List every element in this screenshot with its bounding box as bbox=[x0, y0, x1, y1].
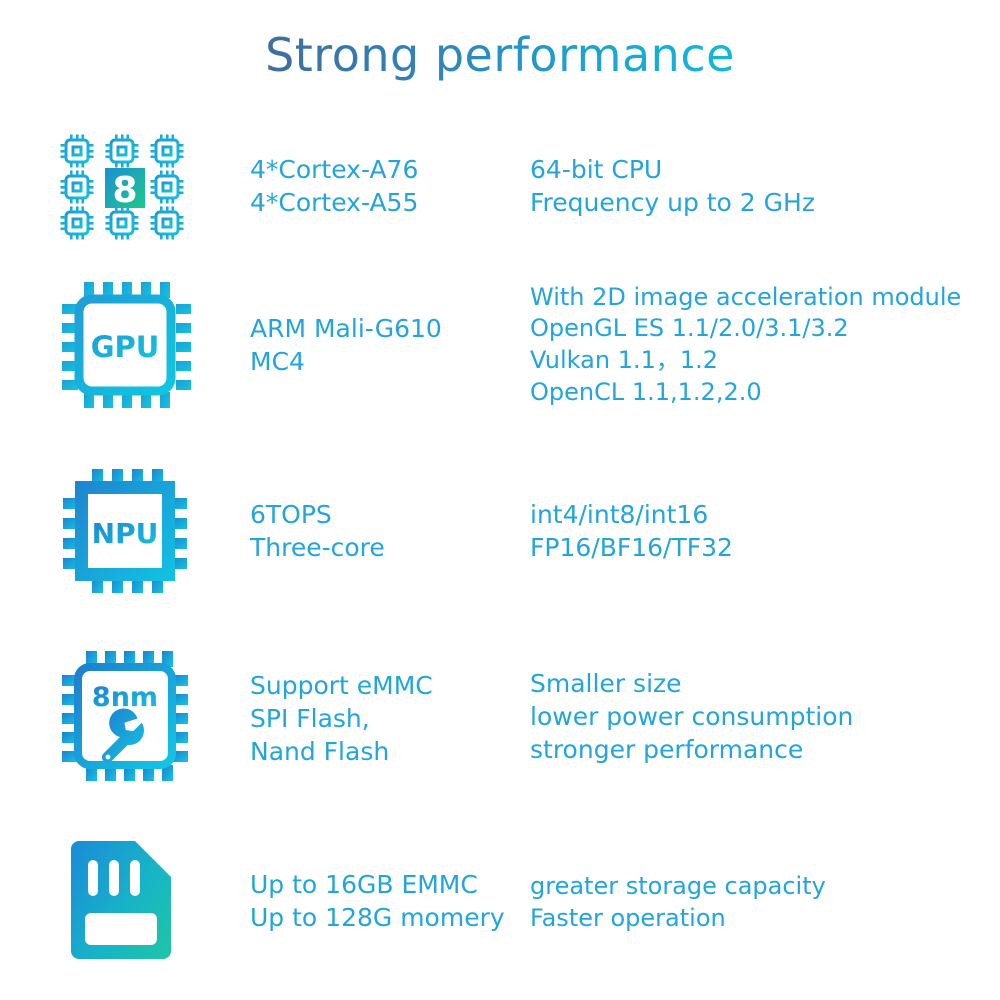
spec-row-npu: NPU 6TOPS Three-core int4/int8/int16 FP1… bbox=[0, 466, 1000, 596]
npu-spec-col2: int4/int8/int16 FP16/BF16/TF32 bbox=[530, 498, 1000, 564]
gpu-chip-icon: GPU bbox=[59, 279, 191, 411]
memory-card-label-area bbox=[85, 913, 157, 945]
icon-cell-storage bbox=[0, 837, 250, 963]
gpu-spec-col1: ARM Mali-G610 MC4 bbox=[250, 312, 530, 378]
process-spec-col2: Smaller size lower power consumption str… bbox=[530, 667, 1000, 766]
memory-card-icon bbox=[67, 837, 183, 963]
memory-card-pin bbox=[88, 860, 98, 896]
spec-row-process: 8nm Support eMMC SPI Flash, Nand Flash S… bbox=[0, 640, 1000, 792]
page-title-container: Strong performance bbox=[0, 28, 1000, 83]
gpu-spec-col2: With 2D image acceleration module OpenGL… bbox=[530, 282, 1000, 409]
process-spec-col1: Support eMMC SPI Flash, Nand Flash bbox=[250, 665, 530, 768]
process-node-chip-wrench-icon: 8nm bbox=[59, 648, 191, 784]
cpu-spec-col2: 64-bit CPU Frequency up to 2 GHz bbox=[530, 153, 1000, 219]
gpu-icon-label: GPU bbox=[91, 330, 160, 364]
icon-cell-npu: NPU bbox=[0, 467, 250, 595]
npu-chip-icon: NPU bbox=[61, 467, 189, 595]
cpu-core-count-badge: 8 bbox=[112, 170, 137, 211]
page-title: Strong performance bbox=[265, 28, 735, 83]
npu-icon-label: NPU bbox=[92, 517, 159, 550]
storage-spec-col2: greater storage capacity Faster operatio… bbox=[530, 865, 1000, 934]
storage-spec-col1: Up to 16GB EMMC Up to 128G momery bbox=[250, 866, 530, 934]
icon-cell-process: 8nm bbox=[0, 648, 250, 784]
spec-row-cpu: 8 4*Cortex-A76 4*Cortex-A55 64-bit CPU F… bbox=[0, 128, 1000, 244]
spec-row-gpu: GPU ARM Mali-G610 MC4 With 2D image acce… bbox=[0, 275, 1000, 415]
memory-card-pin bbox=[130, 860, 140, 896]
process-node-icon-label: 8nm bbox=[92, 682, 158, 713]
spec-row-storage: Up to 16GB EMMC Up to 128G momery greate… bbox=[0, 832, 1000, 968]
icon-cell-cpu: 8 bbox=[0, 128, 250, 244]
cpu-spec-col1: 4*Cortex-A76 4*Cortex-A55 bbox=[250, 153, 530, 219]
octa-core-cpu-grid-icon: 8 bbox=[50, 128, 200, 244]
icon-cell-gpu: GPU bbox=[0, 279, 250, 411]
npu-spec-col1: 6TOPS Three-core bbox=[250, 498, 530, 564]
memory-card-pin bbox=[109, 860, 119, 896]
wrench-icon bbox=[102, 708, 144, 762]
